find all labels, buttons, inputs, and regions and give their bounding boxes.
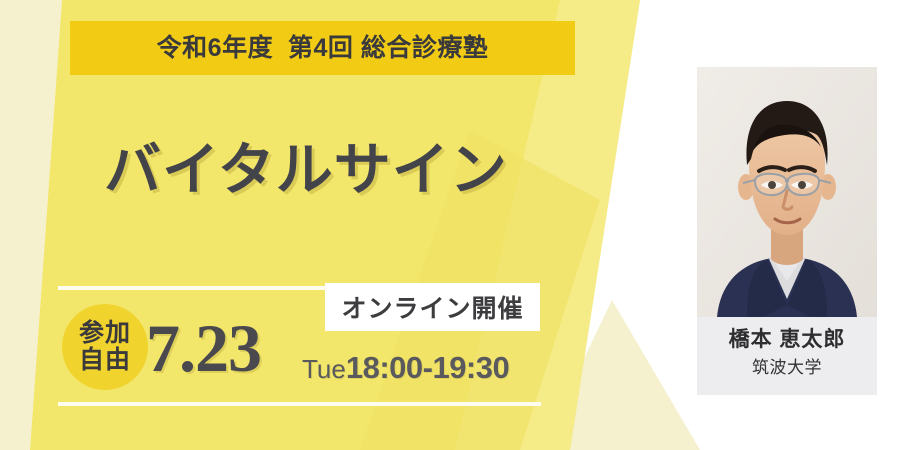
speaker-name: 橋本 恵太郎	[729, 329, 846, 350]
page-title: バイタルサイン	[104, 142, 508, 199]
series-label: 令和6年度 第4回 総合診療塾	[157, 36, 489, 61]
event-time-row: Tue 18:00-19:30	[302, 350, 509, 386]
speaker-affiliation: 筑波大学	[752, 359, 822, 376]
attendance-badge: 参加 自由	[62, 304, 148, 390]
attendance-badge-line2: 自由	[79, 347, 131, 374]
portrait-illustration	[697, 67, 877, 317]
event-time-range: 18:00-19:30	[346, 350, 509, 386]
divider-top	[58, 286, 325, 290]
speaker-portrait	[697, 67, 877, 317]
event-day-of-week: Tue	[302, 354, 346, 385]
divider-bottom	[58, 402, 541, 406]
format-badge-label: オンライン開催	[341, 289, 523, 325]
series-banner: 令和6年度 第4回 総合診療塾	[70, 21, 575, 75]
seminar-poster: 令和6年度 第4回 総合診療塾 バイタルサイン 参加 自由 7.23 Tue 1…	[0, 0, 920, 450]
event-date: 7.23	[146, 314, 261, 382]
attendance-badge-line1: 参加	[79, 320, 131, 347]
speaker-card: 橋本 恵太郎 筑波大学	[697, 67, 877, 395]
format-badge: オンライン開催	[325, 283, 540, 331]
